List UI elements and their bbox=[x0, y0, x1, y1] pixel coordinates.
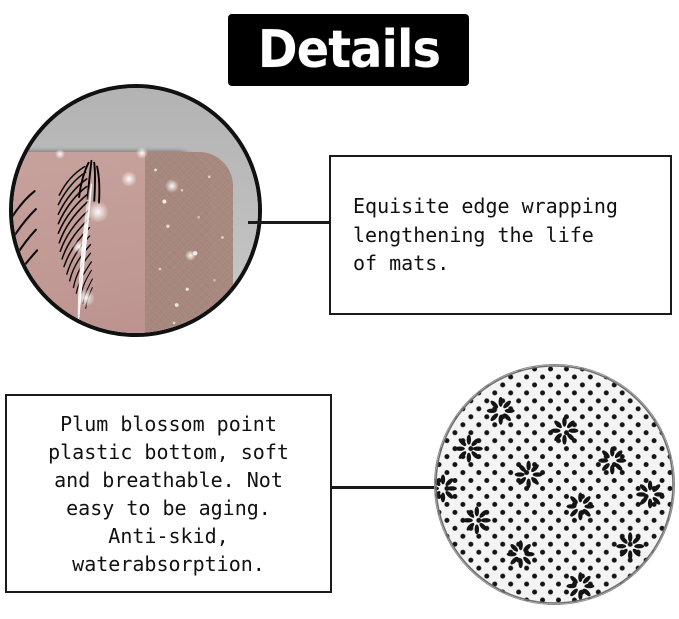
feather-print-icon bbox=[47, 157, 113, 329]
connector-line-bottom bbox=[331, 486, 445, 489]
callout-line: Equisite edge wrapping bbox=[353, 192, 618, 220]
callout-line: and breathable. Not bbox=[17, 466, 320, 494]
callout-line: lengthening the life bbox=[353, 221, 618, 249]
callout-plastic-bottom-text: Plum blossom point plastic bottom, soft … bbox=[17, 410, 320, 578]
mat-glitter-texture bbox=[145, 152, 233, 337]
plum-blossom-backing-photo bbox=[434, 364, 675, 605]
callout-edge-wrapping-text: Equisite edge wrapping lengthening the l… bbox=[353, 192, 618, 277]
callout-line: easy to be aging. bbox=[17, 494, 320, 522]
page-title: Details bbox=[257, 24, 439, 76]
details-title-banner: Details bbox=[228, 14, 469, 86]
feather-fragment-icon bbox=[9, 186, 38, 289]
mat-edge-closeup-photo bbox=[9, 84, 262, 337]
callout-line: Anti-skid, bbox=[17, 522, 320, 550]
plum-blossom-dot-pattern bbox=[435, 365, 674, 604]
callout-line: Plum blossom point bbox=[17, 410, 320, 438]
callout-line: plastic bottom, soft bbox=[17, 438, 320, 466]
callout-plastic-bottom: Plum blossom point plastic bottom, soft … bbox=[5, 394, 332, 593]
connector-line-top bbox=[248, 221, 331, 224]
callout-line: of mats. bbox=[353, 249, 618, 277]
callout-edge-wrapping: Equisite edge wrapping lengthening the l… bbox=[329, 155, 672, 315]
callout-line: waterabsorption. bbox=[17, 550, 320, 578]
